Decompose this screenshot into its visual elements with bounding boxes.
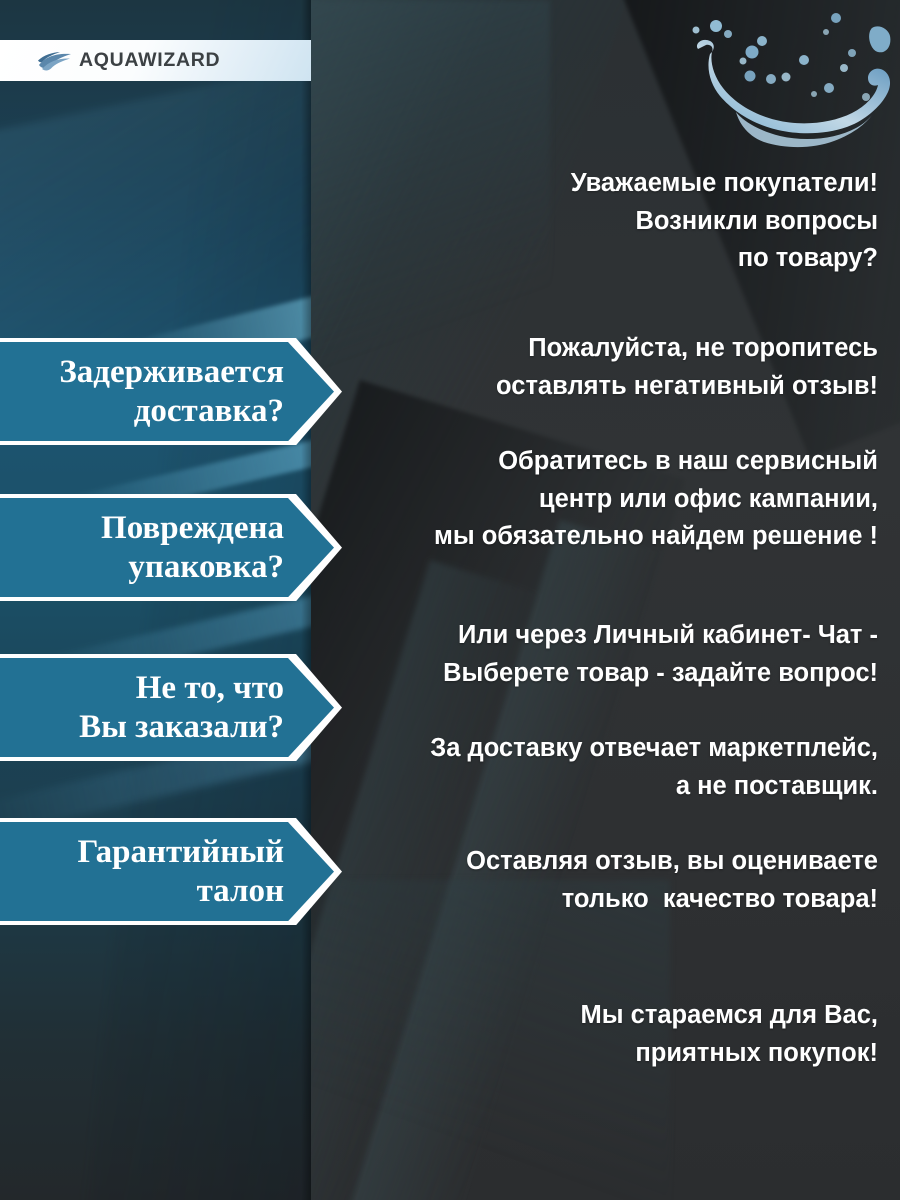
banner-wrong-item: Не то, что Вы заказали? [0, 654, 342, 761]
banner-line-2: упаковка? [4, 548, 284, 587]
promo-poster: AQUAWIZARD Задерживается доставка? Повре… [0, 0, 900, 1200]
banner-line-2: Вы заказали? [4, 708, 284, 747]
message-delivery: За доставку отвечает маркетплейс, а не п… [318, 730, 878, 805]
brand-logo-text: AQUAWIZARD [79, 49, 220, 72]
banner-damaged-packaging: Повреждена упаковка? [0, 494, 342, 601]
message-greeting: Уважаемые покупатели! Возникли вопросы п… [318, 165, 878, 278]
message-no-rush: Пожалуйста, не торопитесь оставлять нега… [318, 330, 878, 405]
message-quality: Оставляя отзыв, вы оцениваете только кач… [318, 843, 878, 918]
banner-warranty-card: Гарантийный талон [0, 818, 342, 925]
wave-icon [38, 51, 72, 71]
banner-line-1: Гарантийный [4, 833, 284, 872]
column-edge-shadow [301, 0, 311, 1200]
banner-line-1: Задерживается [4, 353, 284, 392]
banner-line-2: талон [4, 872, 284, 911]
banner-line-2: доставка? [4, 392, 284, 431]
brand-logo-bar: AQUAWIZARD [0, 40, 311, 81]
message-contact: Обратитесь в наш сервисный центр или офи… [318, 443, 878, 556]
banner-line-1: Не то, что [4, 669, 284, 708]
banner-line-1: Повреждена [4, 509, 284, 548]
message-chat: Или через Личный кабинет- Чат - Выберете… [318, 617, 878, 692]
message-closing: Мы стараемся для Вас, приятных покупок! [318, 997, 878, 1072]
banner-delivery-delayed: Задерживается доставка? [0, 338, 342, 445]
